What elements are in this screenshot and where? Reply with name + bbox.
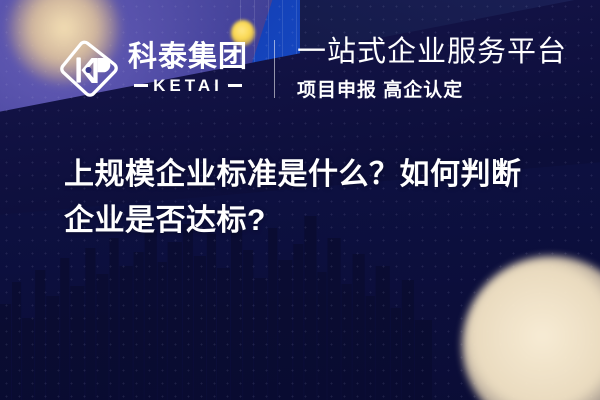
brand-name-cn: 科泰集团: [128, 42, 248, 72]
promo-banner: 科泰集团 KETAI 一站式企业服务平台 项目申报 高企认定 上规模企业标准是什…: [0, 0, 600, 400]
dash-right-icon: [228, 84, 242, 87]
headline-line-2: 企业是否达标?: [64, 198, 574, 244]
headline-line-1: 上规模企业标准是什么？如何判断: [64, 152, 574, 198]
brand-name-en-row: KETAI: [128, 76, 248, 96]
tagline-block: 一站式企业服务平台 项目申报 高企认定: [297, 36, 567, 102]
headline: 上规模企业标准是什么？如何判断 企业是否达标?: [64, 152, 574, 244]
logo-wordmark: 科泰集团 KETAI: [128, 42, 248, 95]
brand-header: 科泰集团 KETAI 一站式企业服务平台 项目申报 高企认定: [58, 36, 567, 102]
ketai-diamond-logo-icon: [58, 38, 120, 100]
logo: 科泰集团 KETAI: [58, 38, 248, 100]
tagline-primary: 一站式企业服务平台: [297, 36, 567, 69]
tagline-secondary: 项目申报 高企认定: [297, 75, 567, 102]
dash-left-icon: [134, 84, 148, 87]
brand-name-en: KETAI: [153, 76, 223, 96]
banner-content: 科泰集团 KETAI 一站式企业服务平台 项目申报 高企认定 上规模企业标准是什…: [0, 0, 600, 400]
vertical-divider: [274, 40, 275, 98]
